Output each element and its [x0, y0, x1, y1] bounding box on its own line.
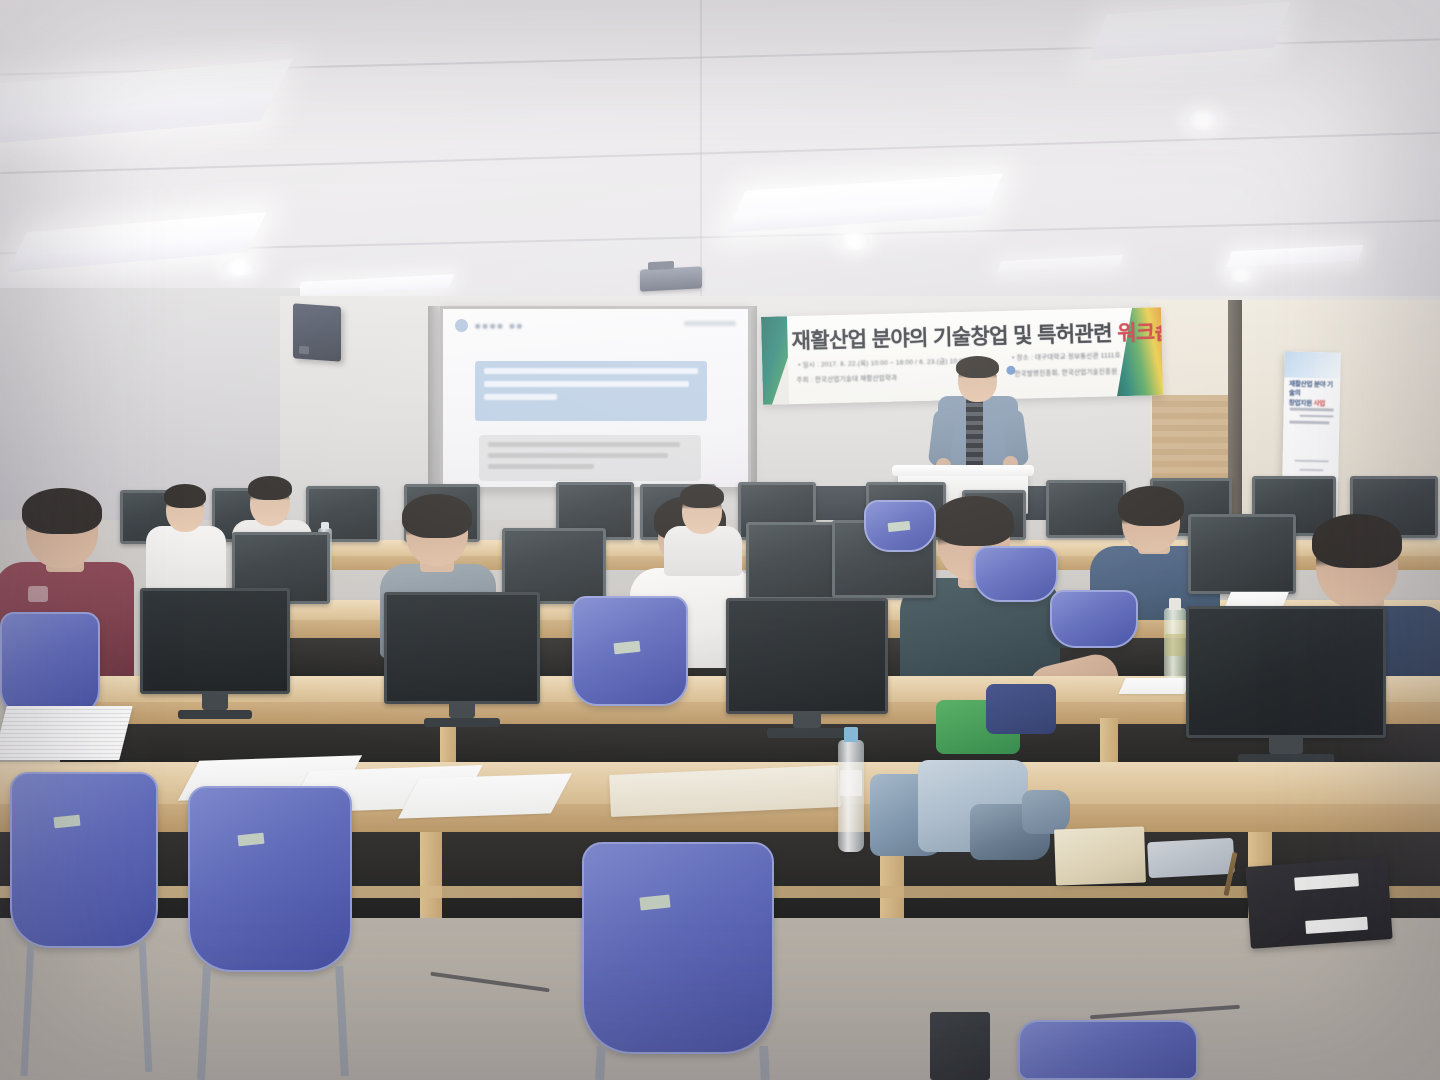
ceiling-light-panel — [1226, 245, 1363, 268]
chair-leg — [759, 1046, 770, 1080]
chair-label — [53, 815, 80, 829]
banner-subtitle-where: • 장소 : 대구대학교 정보통신관 1111호 — [1012, 349, 1121, 362]
black-folder — [1245, 857, 1392, 949]
desk-leg — [420, 832, 442, 918]
projector-icon — [640, 266, 702, 291]
person-body — [146, 526, 226, 594]
person-hair — [1312, 514, 1402, 568]
rollup-title-line2: 창업지원 — [1289, 399, 1314, 407]
paper-sheet — [398, 773, 572, 818]
slide-blue-textblock — [475, 361, 707, 421]
slide-logo-icon — [455, 319, 468, 332]
slide-title: ■■■■ ■■ — [475, 321, 524, 331]
downlight-icon — [838, 232, 870, 250]
ceiling-light-panel — [727, 173, 1003, 232]
chair — [1018, 1020, 1198, 1080]
chair — [188, 786, 352, 972]
ceiling-light-panel — [997, 255, 1124, 273]
person-hair — [680, 484, 724, 508]
person-hair — [164, 484, 206, 508]
paper-sheet — [1225, 592, 1289, 606]
chair — [864, 500, 936, 552]
slide-gray-textblock — [479, 435, 701, 481]
chair — [974, 546, 1058, 602]
downlight-icon — [1228, 268, 1254, 282]
chair-label — [639, 894, 670, 910]
ceiling — [0, 0, 1440, 300]
monitor — [1188, 514, 1296, 594]
monitor — [726, 598, 888, 714]
green-tea-bottle — [1164, 608, 1186, 680]
ceiling-light-panel — [296, 274, 455, 296]
wall-speaker-icon — [293, 303, 341, 361]
rollup-title-highlight: 사업 — [1313, 400, 1325, 407]
audience-person — [660, 486, 746, 576]
water-bottle — [838, 740, 864, 852]
monitor — [384, 592, 540, 704]
person-hair — [22, 488, 102, 534]
monitor — [140, 588, 290, 694]
slide-corner-mark — [684, 321, 736, 326]
person-hair — [934, 496, 1014, 546]
projection-screen: ■■■■ ■■ — [440, 306, 751, 490]
banner-title-main: 재활산업 분야의 기술창업 및 특허관련 — [791, 322, 1117, 353]
banner-left-edge — [761, 316, 789, 405]
pc-tower — [930, 1012, 990, 1080]
navy-bag — [986, 684, 1056, 734]
presenter-hair — [956, 356, 999, 378]
banner-subtitle-host: 주최 : 한국산업기술대 재활산업학과 — [796, 372, 897, 384]
chair-label — [237, 833, 264, 847]
audience-person — [140, 482, 232, 590]
person-hair — [1118, 486, 1184, 526]
rollup-title-line1: 재활산업 분야 기술의 — [1289, 381, 1333, 398]
paper-sheet — [1118, 678, 1191, 694]
cream-box — [1054, 826, 1146, 885]
chair-label — [888, 521, 911, 532]
jacket-cuff — [1022, 790, 1070, 834]
person-hair — [402, 494, 472, 538]
chair — [0, 612, 100, 716]
banner-title-highlight: 워크숍 — [1117, 321, 1163, 345]
downlight-icon — [222, 258, 256, 276]
slide-header: ■■■■ ■■ — [455, 319, 524, 332]
chair — [10, 772, 158, 948]
chair-leg — [595, 1046, 606, 1080]
person-hair — [248, 476, 292, 500]
denim-jacket — [870, 756, 1070, 868]
handout-paper-stack — [0, 706, 133, 760]
classroom-photo: ■■■■ ■■ 재활산업 분야의 기술창업 및 특허관련 워크숍 • 일시 : … — [0, 0, 1440, 1080]
downlight-icon — [1186, 110, 1220, 130]
plastic-bag — [1147, 838, 1235, 878]
chair — [1050, 590, 1138, 648]
ceiling-light-panel — [1089, 2, 1290, 61]
person-shoulder-tag — [28, 586, 48, 602]
rollup-title: 재활산업 분야 기술의 창업지원 사업 — [1289, 380, 1338, 409]
folder-label-secondary — [1305, 917, 1368, 934]
folder-label — [1294, 873, 1359, 890]
chair — [582, 842, 774, 1054]
chair-label — [613, 641, 640, 655]
rollup-body-text — [1289, 408, 1333, 428]
chair — [572, 596, 688, 706]
monitor — [1186, 606, 1386, 738]
banner-subtitle-org: 한국발명진흥회, 한국산업기술진흥원 — [1014, 365, 1117, 378]
rollup-header-graphic — [1284, 351, 1341, 378]
podium-top — [892, 465, 1034, 476]
